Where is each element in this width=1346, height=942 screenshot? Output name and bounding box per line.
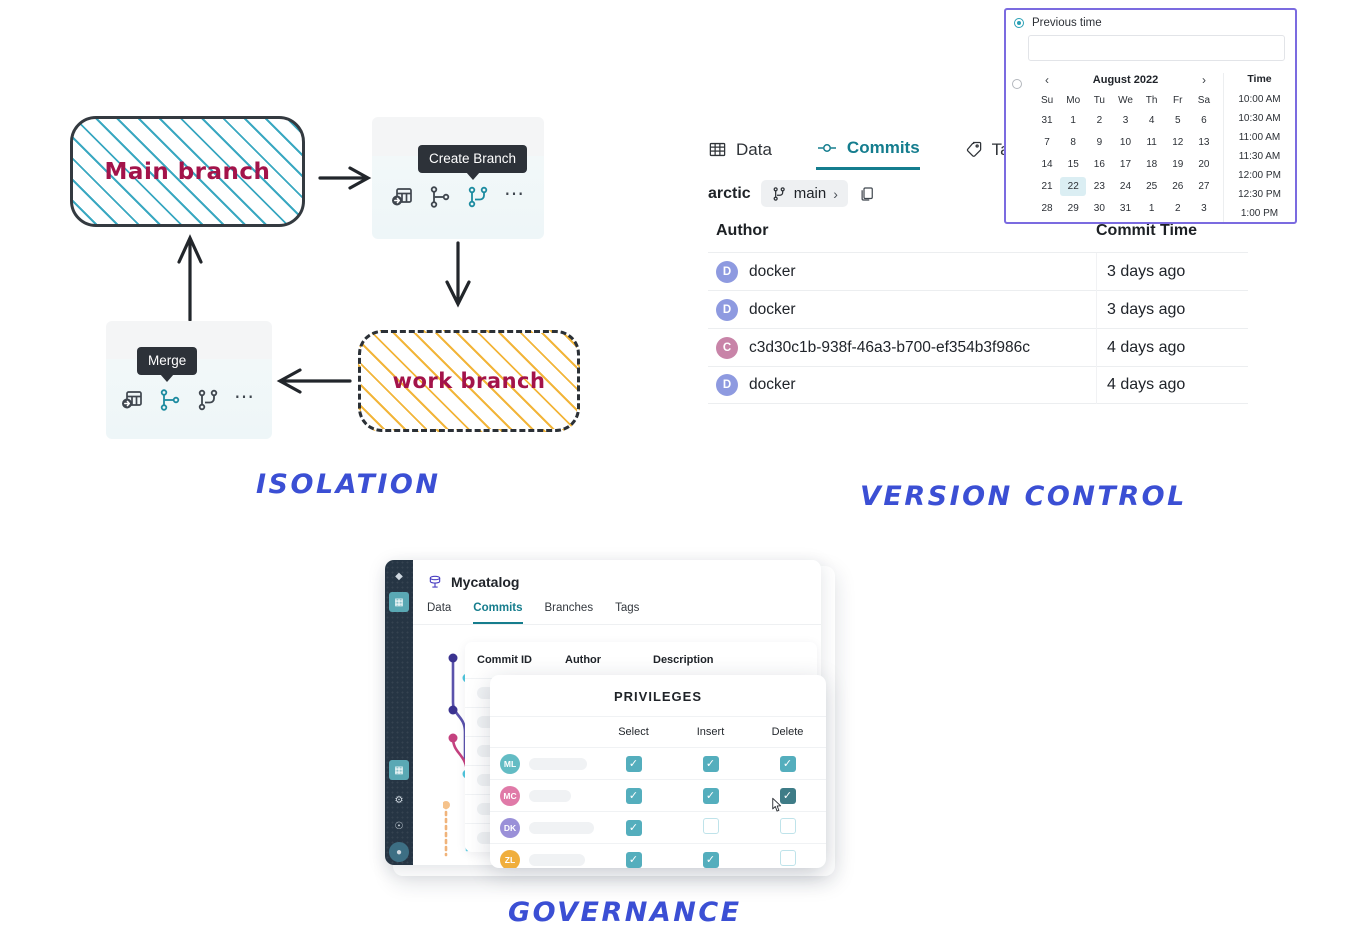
gov-tab-tags[interactable]: Tags [615,602,639,624]
calendar-day[interactable]: 3 [1112,111,1138,130]
calendar-day[interactable]: 31 [1112,199,1138,218]
author-name: docker [749,376,796,394]
absolute-time-option[interactable] [1006,73,1028,223]
chevron-right-icon[interactable]: › [1199,73,1209,87]
checkbox-select[interactable]: ✓ [626,788,642,804]
gov-column-commit-id: Commit ID [477,654,565,666]
work-branch-box: work branch [358,330,580,432]
calendar-day-name: Sa [1191,93,1217,108]
privilege-cell-select[interactable]: ✓ [595,820,672,836]
calendar-day[interactable]: 1 [1060,111,1086,130]
branch-name: main [794,185,827,202]
time-slot[interactable]: 12:00 PM [1224,166,1295,185]
gov-tab-commits[interactable]: Commits [473,602,522,624]
checkbox-insert[interactable]: ✓ [703,756,719,772]
table-row[interactable]: Ddocker3 days ago [708,252,1248,290]
chevron-left-icon[interactable]: ‹ [1042,73,1052,87]
time-column-title: Time [1224,73,1295,90]
calendar-day[interactable]: 26 [1165,177,1191,196]
commits-icon [816,139,838,157]
column-commit-time: Commit Time [1096,222,1248,240]
calendar-grid[interactable]: SuMoTuWeThFrSa31123456789101112131415161… [1034,93,1217,218]
calendar-day[interactable]: 2 [1086,111,1112,130]
calendar-day[interactable]: 1 [1139,199,1165,218]
calendar-day[interactable]: 7 [1034,133,1060,152]
calendar-day-name: Fr [1165,93,1191,108]
branch-icon[interactable] [466,185,490,209]
cell-commit-time: 3 days ago [1096,253,1248,291]
privilege-cell-insert[interactable]: ✓ [672,788,749,804]
calendar-day[interactable]: 5 [1165,111,1191,130]
privileges-column-insert: Insert [672,726,749,738]
avatar: D [716,299,738,321]
calendar-day[interactable]: 22 [1060,177,1086,196]
diagram-canvas: Main branch work branch Create Branch ⋯ [0,0,1346,942]
avatar: ZL [500,850,520,869]
datetime-picker-popup[interactable]: Previous time ‹ August 2022 › SuMoTuWeTh… [1004,8,1297,224]
time-slot-list[interactable]: 10:00 AM10:30 AM11:00 AM11:30 AM12:00 PM… [1224,90,1295,223]
create-branch-tooltip: Create Branch [418,145,527,173]
time-list[interactable]: Time 10:00 AM10:30 AM11:00 AM11:30 AM12:… [1223,73,1295,223]
avatar: DK [500,818,520,838]
table-row[interactable]: Ddocker4 days ago [708,366,1248,404]
privileges-panel: PRIVILEGES Select Insert Delete ML✓✓✓MC✓… [490,675,826,868]
calendar-day[interactable]: 24 [1112,177,1138,196]
privileges-title: PRIVILEGES [490,675,826,716]
merge-icon[interactable] [158,388,182,412]
user-name-placeholder [529,758,587,770]
gov-column-author: Author [565,654,653,666]
main-branch-box: Main branch [70,116,305,227]
user-name-placeholder [529,854,585,866]
create-branch-icon-row: ⋯ [390,185,526,209]
calendar-body: ‹ August 2022 › SuMoTuWeThFrSa3112345678… [1006,73,1295,223]
merge-icon-row: ⋯ [120,388,256,412]
merge-tooltip: Merge [137,347,197,375]
calendar-day[interactable]: 14 [1034,155,1060,174]
caption-governance: GOVERNANCE [508,897,742,928]
calendar-day[interactable]: 16 [1086,155,1112,174]
calendar-day[interactable]: 4 [1139,111,1165,130]
governance-composite: ◆ ▦ ▦ ⚙ ☉ ● Mycatalog Data [385,560,835,880]
gov-table-header: Commit ID Author Description [465,642,817,678]
privilege-cell-delete[interactable]: ✓ [749,788,826,804]
author-name: docker [749,301,796,319]
previous-time-label: Previous time [1032,17,1102,29]
work-branch-label: work branch [393,369,546,393]
privileges-user: MC [490,786,595,806]
privileges-column-delete: Delete [749,726,826,738]
cell-commit-time: 3 days ago [1096,291,1248,329]
cell-commit-time: 4 days ago [1096,329,1248,367]
time-slot[interactable]: 10:00 AM [1224,90,1295,109]
calendar-day[interactable]: 13 [1191,133,1217,152]
more-options-icon[interactable]: ⋯ [504,188,526,206]
checkbox-delete[interactable]: ✓ [780,756,796,772]
calendar-month-title: August 2022 [1093,74,1158,86]
calendar-day[interactable]: 18 [1139,155,1165,174]
privileges-row: ZL✓✓ [490,843,826,868]
radio-absolute-time[interactable] [1012,79,1022,89]
version-control-tabs: Data Commits Tags [708,138,1028,170]
checkbox-insert[interactable]: ✓ [703,852,719,868]
cell-author: Cc3d30c1b-938f-46a3-b700-ef354b3f986c [708,337,1096,359]
database-icon [427,574,443,590]
cell-author: Ddocker [708,299,1096,321]
privilege-cell-select[interactable]: ✓ [595,756,672,772]
privilege-cell-delete[interactable] [749,818,826,837]
privilege-cell-select[interactable]: ✓ [595,852,672,868]
tab-commits[interactable]: Commits [816,138,920,170]
calendar-day[interactable]: 29 [1060,199,1086,218]
previous-time-input[interactable] [1028,35,1285,61]
caption-isolation: ISOLATION [256,469,440,500]
branch-icon [771,186,787,202]
settings-gear-icon[interactable]: ⚙ [389,790,409,810]
calendar-day[interactable]: 12 [1165,133,1191,152]
checkbox-select[interactable]: ✓ [626,756,642,772]
author-name: docker [749,263,796,281]
commits-table-body: Ddocker3 days agoDdocker3 days agoCc3d30… [708,252,1248,404]
calendar-day[interactable]: 20 [1191,155,1217,174]
calendar-day-name: Su [1034,93,1060,108]
table-import-icon[interactable] [120,388,144,412]
privilege-cell-insert[interactable] [672,818,749,837]
privilege-cell-delete[interactable] [749,850,826,868]
calendar: ‹ August 2022 › SuMoTuWeThFrSa3112345678… [1028,73,1223,223]
calendar-day[interactable]: 6 [1191,111,1217,130]
calendar-day[interactable]: 19 [1165,155,1191,174]
calendar-day[interactable]: 31 [1034,111,1060,130]
checkbox-delete[interactable] [780,850,796,866]
previous-time-option[interactable]: Previous time [1006,10,1295,29]
tab-data-label: Data [736,140,772,160]
privileges-user-column [490,726,595,738]
calendar-day[interactable]: 11 [1139,133,1165,152]
calendar-day[interactable]: 2 [1165,199,1191,218]
create-branch-toolbar-card [372,117,544,239]
diamond-logo-icon[interactable]: ◆ [389,566,409,586]
privileges-header: Select Insert Delete [490,716,826,747]
checkbox-select[interactable]: ✓ [626,820,642,836]
cell-author: Ddocker [708,374,1096,396]
calendar-day[interactable]: 23 [1086,177,1112,196]
user-name-placeholder [529,822,594,834]
merge-toolbar-card [106,321,272,439]
more-options-icon[interactable]: ⋯ [234,391,256,409]
repo-branch-bar: arctic main › [708,180,876,207]
merge-icon[interactable] [428,185,452,209]
privilege-cell-delete[interactable]: ✓ [749,756,826,772]
tab-commits-label: Commits [847,138,920,158]
repo-name: arctic [708,185,751,203]
cell-commit-time: 4 days ago [1096,366,1248,404]
table-import-icon[interactable] [390,185,414,209]
column-author: Author [716,222,1096,240]
main-branch-label: Main branch [105,159,271,185]
tab-data[interactable]: Data [708,140,772,169]
time-slot[interactable]: 10:30 AM [1224,109,1295,128]
calendar-day[interactable]: 21 [1034,177,1060,196]
calendar-day[interactable]: 30 [1086,199,1112,218]
calendar-day[interactable]: 3 [1191,199,1217,218]
branch-selector[interactable]: main › [761,180,848,207]
cell-author: Ddocker [708,261,1096,283]
app-sidebar: ◆ ▦ ▦ ⚙ ☉ ● [385,560,413,865]
checkbox-delete[interactable] [780,818,796,834]
calendar-day-name: Tu [1086,93,1112,108]
calendar-day[interactable]: 27 [1191,177,1217,196]
isolation-diagram: Main branch work branch Create Branch ⋯ [0,0,660,460]
privileges-row: ML✓✓✓ [490,747,826,779]
calendar-icon[interactable]: ▦ [389,760,409,780]
calendar-day-name: Mo [1060,93,1086,108]
chevron-right-icon: › [833,186,838,202]
app-tabs: Data Commits Branches Tags [413,590,821,625]
app-title-bar: Mycatalog [413,560,821,590]
pointer-cursor-icon [770,797,784,814]
avatar: ML [500,754,520,774]
author-name: c3d30c1b-938f-46a3-b700-ef354b3f986c [749,339,1030,357]
privileges-user: ZL [490,850,595,869]
privileges-column-select: Select [595,726,672,738]
commits-table-header: Author Commit Time [708,222,1248,252]
gov-tab-branches[interactable]: Branches [545,602,594,624]
privilege-cell-insert[interactable]: ✓ [672,852,749,868]
calendar-day[interactable]: 25 [1139,177,1165,196]
checkbox-select[interactable]: ✓ [626,852,642,868]
privileges-user: DK [490,818,595,838]
time-slot[interactable]: 12:30 PM [1224,185,1295,204]
caption-version-control: VERSION CONTROL [860,481,1187,512]
table-grid-icon [708,140,727,159]
gov-column-description: Description [653,654,817,666]
checkbox-insert[interactable]: ✓ [703,788,719,804]
catalog-icon[interactable]: ▦ [389,592,409,612]
time-slot[interactable]: 11:00 AM [1224,128,1295,147]
avatar: D [716,374,738,396]
avatar: MC [500,786,520,806]
time-slot[interactable]: 1:00 PM [1224,204,1295,223]
calendar-day[interactable]: 9 [1086,133,1112,152]
calendar-day[interactable]: 10 [1112,133,1138,152]
radio-previous-time[interactable] [1014,18,1024,28]
avatar: C [716,337,738,359]
table-row[interactable]: Cc3d30c1b-938f-46a3-b700-ef354b3f986c4 d… [708,328,1248,366]
calendar-day-name: We [1112,93,1138,108]
privileges-row: DK✓ [490,811,826,843]
calendar-day[interactable]: 15 [1060,155,1086,174]
app-title: Mycatalog [451,574,519,590]
calendar-day-name: Th [1139,93,1165,108]
commits-table: Author Commit Time Ddocker3 days agoDdoc… [708,222,1248,404]
calendar-day[interactable]: 17 [1112,155,1138,174]
copy-icon[interactable] [858,185,876,203]
privileges-user: ML [490,754,595,774]
user-avatar-icon[interactable]: ● [389,842,409,862]
help-circle-icon[interactable]: ☉ [389,816,409,836]
calendar-header: ‹ August 2022 › [1034,73,1217,93]
checkbox-insert[interactable] [703,818,719,834]
user-name-placeholder [529,790,571,802]
calendar-day[interactable]: 8 [1060,133,1086,152]
calendar-day[interactable]: 28 [1034,199,1060,218]
time-slot[interactable]: 11:30 AM [1224,147,1295,166]
table-row[interactable]: Ddocker3 days ago [708,290,1248,328]
branch-icon[interactable] [196,388,220,412]
avatar: D [716,261,738,283]
privilege-cell-select[interactable]: ✓ [595,788,672,804]
gov-tab-data[interactable]: Data [427,602,451,624]
privilege-cell-insert[interactable]: ✓ [672,756,749,772]
tag-icon [964,140,983,159]
